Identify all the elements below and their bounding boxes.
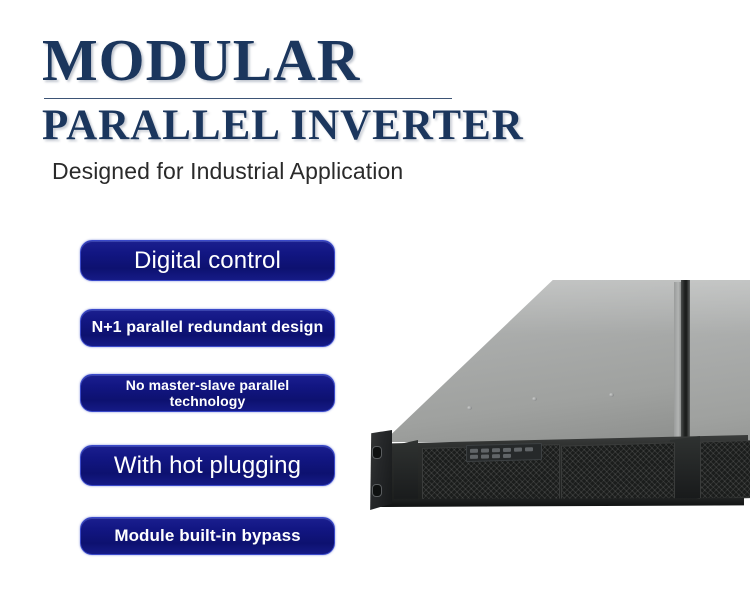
module-top-panel-right: [688, 280, 750, 442]
page-title: MODULAR: [42, 30, 512, 90]
led-indicator-icon: [470, 454, 478, 458]
module-top-panel-left: [390, 280, 686, 442]
feature-pill-hot-plugging[interactable]: With hot plugging: [80, 445, 335, 486]
led-indicator-icon: [481, 448, 489, 452]
feature-pill-redundant-design[interactable]: N+1 parallel redundant design: [80, 309, 335, 347]
module-handle-bay-left: [394, 440, 418, 506]
top-panel-highlight: [688, 280, 750, 335]
feature-pill-built-in-bypass[interactable]: Module built-in bypass: [80, 517, 335, 555]
feature-pill-label: With hot plugging: [114, 452, 301, 480]
rack-mount-ear: [366, 430, 392, 510]
led-indicator-icon: [503, 447, 511, 451]
feature-pill-label: N+1 parallel redundant design: [92, 319, 324, 337]
mesh-grille-icon: [561, 442, 675, 503]
headline-block: MODULAR PARALLEL INVERTER: [42, 30, 512, 149]
promo-banner: MODULAR PARALLEL INVERTER Designed for I…: [0, 0, 750, 596]
product-image: [358, 252, 750, 512]
led-indicator-icon: [514, 447, 522, 451]
feature-pill-label: Digital control: [134, 247, 281, 275]
chassis-bottom-lip: [382, 498, 744, 507]
rack-ear-slot-icon: [372, 446, 382, 459]
mesh-grille-icon: [700, 439, 750, 500]
screw-icon: [532, 397, 537, 401]
feature-pill-digital-control[interactable]: Digital control: [80, 240, 335, 281]
led-indicator-icon: [470, 448, 478, 452]
title-divider: [44, 98, 452, 99]
module-seam: [681, 280, 690, 448]
led-indicator-icon: [525, 447, 533, 451]
feature-pill-label: No master-slave parallel technology: [89, 377, 326, 409]
page-subtitle: PARALLEL INVERTER: [42, 103, 512, 149]
rack-ear-slot-icon: [372, 484, 382, 497]
led-indicator-icon: [492, 448, 500, 452]
screw-icon: [467, 406, 472, 410]
control-panel-left[interactable]: [466, 443, 542, 462]
led-indicator-icon: [492, 454, 500, 458]
feature-pill-no-master-slave[interactable]: No master-slave parallel technology: [80, 374, 335, 412]
led-indicator-icon: [503, 453, 511, 457]
tagline: Designed for Industrial Application: [52, 158, 403, 185]
feature-pill-label: Module built-in bypass: [114, 526, 300, 546]
led-indicator-icon: [481, 454, 489, 458]
top-panel-highlight: [390, 280, 686, 335]
screw-icon: [609, 393, 614, 397]
